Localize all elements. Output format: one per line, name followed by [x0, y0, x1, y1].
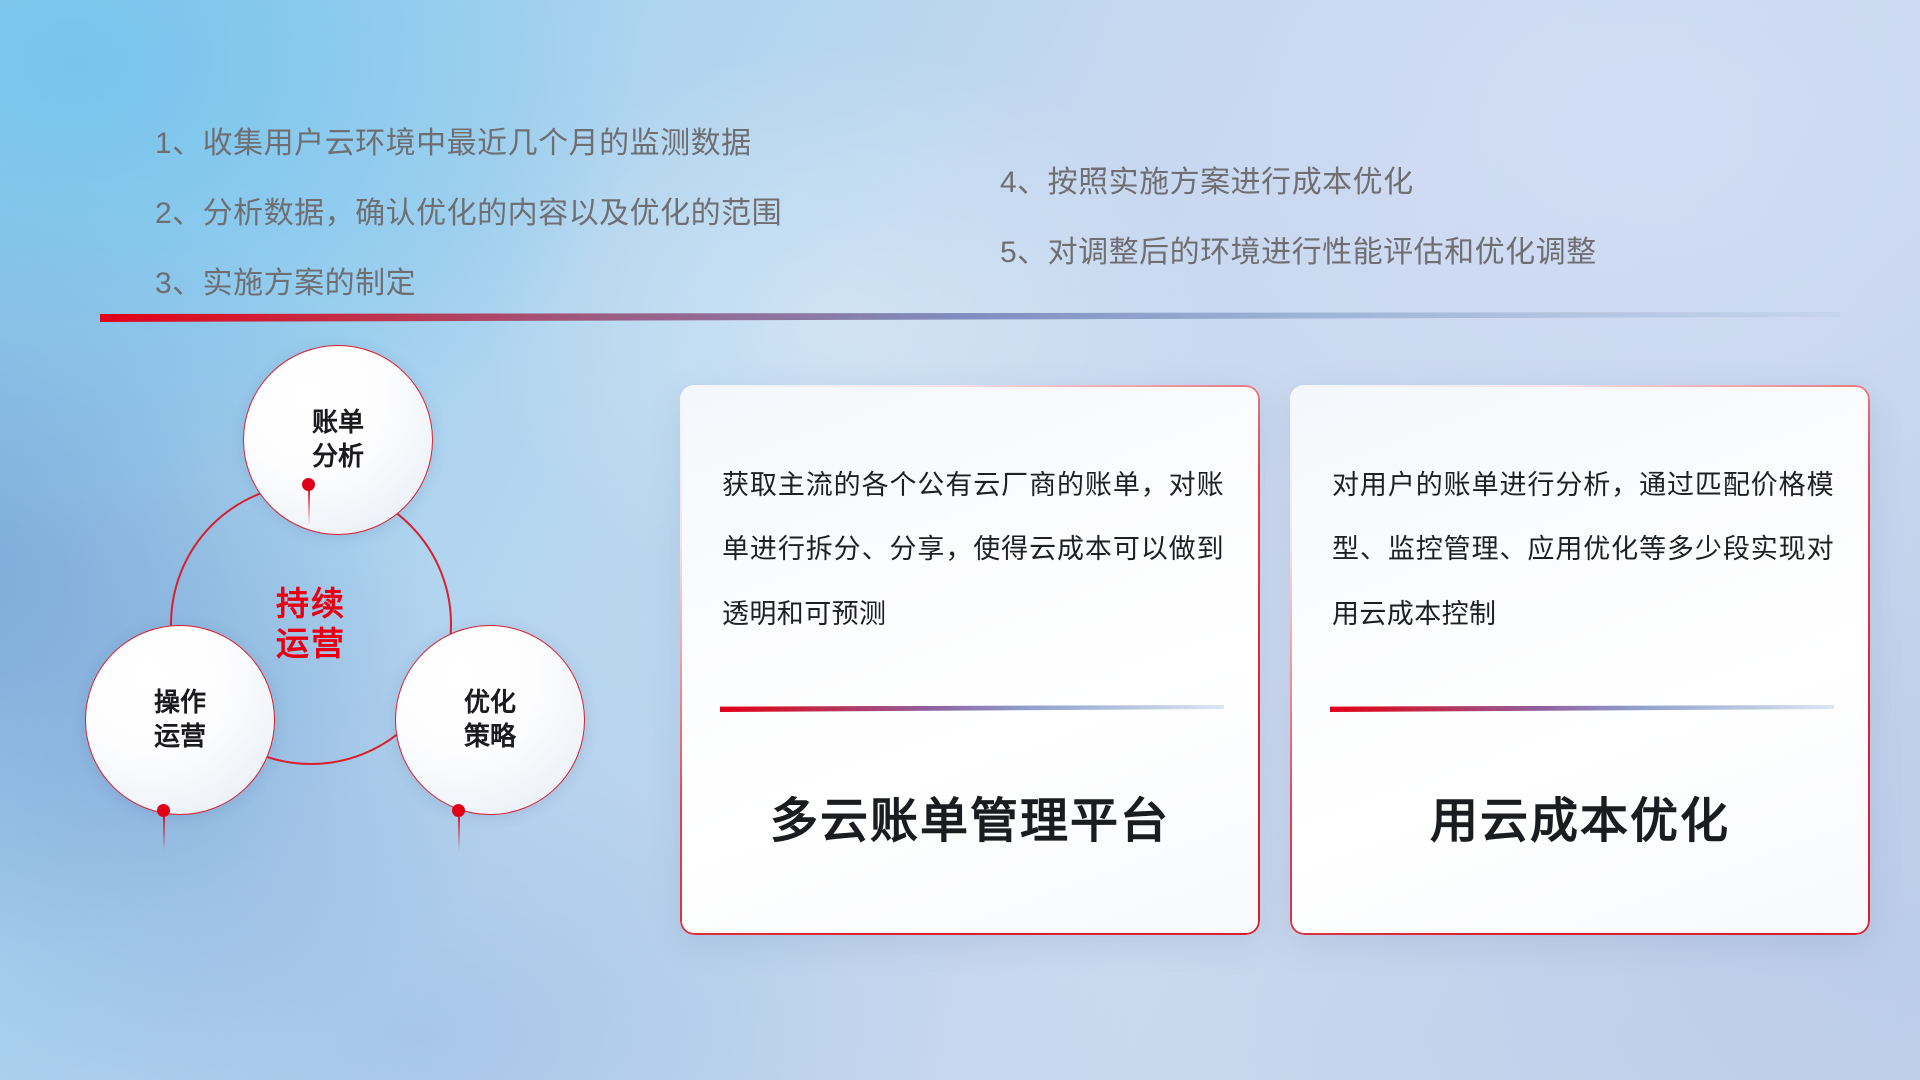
card-divider-rule-1 — [720, 705, 1224, 712]
diagram-dot-bottom-left — [157, 804, 170, 817]
card-cloud-cost-optimization-body: 对用户的账单进行分析，通过匹配价格模型、监控管理、应用优化等多少段实现对用云成本… — [1332, 453, 1834, 646]
cycle-center-label: 持续 运营 — [170, 483, 452, 765]
diagram-node-optimization-strategy-line-1: 优化 — [464, 686, 516, 720]
process-step-4: 4、按照实施方案进行成本优化 — [1000, 157, 1597, 201]
card-cloud-cost-optimization[interactable]: 对用户的账单进行分析，通过匹配价格模型、监控管理、应用优化等多少段实现对用云成本… — [1290, 385, 1870, 935]
diagram-node-optimization-strategy-line-2: 策略 — [464, 720, 516, 754]
cycle-center-line-2: 运营 — [276, 624, 346, 664]
cycle-center-line-1: 持续 — [276, 584, 346, 624]
diagram-node-bill-analysis-line-2: 分析 — [312, 440, 364, 474]
diagram-dot-bottom-right — [452, 804, 465, 817]
process-step-1: 1、收集用户云环境中最近几个月的监测数据 — [155, 118, 782, 162]
card-multicloud-bill-platform-title: 多云账单管理平台 — [680, 781, 1260, 851]
diagram-tail-top — [308, 491, 310, 525]
diagram-node-bill-analysis-line-1: 账单 — [312, 406, 364, 440]
card-cloud-cost-optimization-title: 用云成本优化 — [1290, 781, 1870, 851]
diagram-tail-bottom-left — [163, 817, 165, 851]
diagram-dot-top — [302, 478, 315, 491]
diagram-tail-bottom-right — [458, 817, 460, 851]
process-step-5: 5、对调整后的环境进行性能评估和优化调整 — [1000, 227, 1597, 271]
section-divider-rule — [100, 312, 1840, 322]
card-multicloud-bill-platform-body: 获取主流的各个公有云厂商的账单，对账单进行拆分、分享，使得云成本可以做到透明和可… — [722, 453, 1224, 646]
process-steps-left: 1、收集用户云环境中最近几个月的监测数据 2、分析数据，确认优化的内容以及优化的… — [155, 118, 782, 328]
card-divider-rule-2 — [1330, 705, 1834, 712]
card-multicloud-bill-platform[interactable]: 获取主流的各个公有云厂商的账单，对账单进行拆分、分享，使得云成本可以做到透明和可… — [680, 385, 1260, 935]
process-steps-right: 4、按照实施方案进行成本优化 5、对调整后的环境进行性能评估和优化调整 — [1000, 157, 1597, 297]
continuous-operation-diagram: 持续 运营 账单 分析 操作 运营 优化 策略 — [95, 355, 635, 945]
process-step-2: 2、分析数据，确认优化的内容以及优化的范围 — [155, 188, 782, 232]
process-step-3: 3、实施方案的制定 — [155, 258, 782, 302]
